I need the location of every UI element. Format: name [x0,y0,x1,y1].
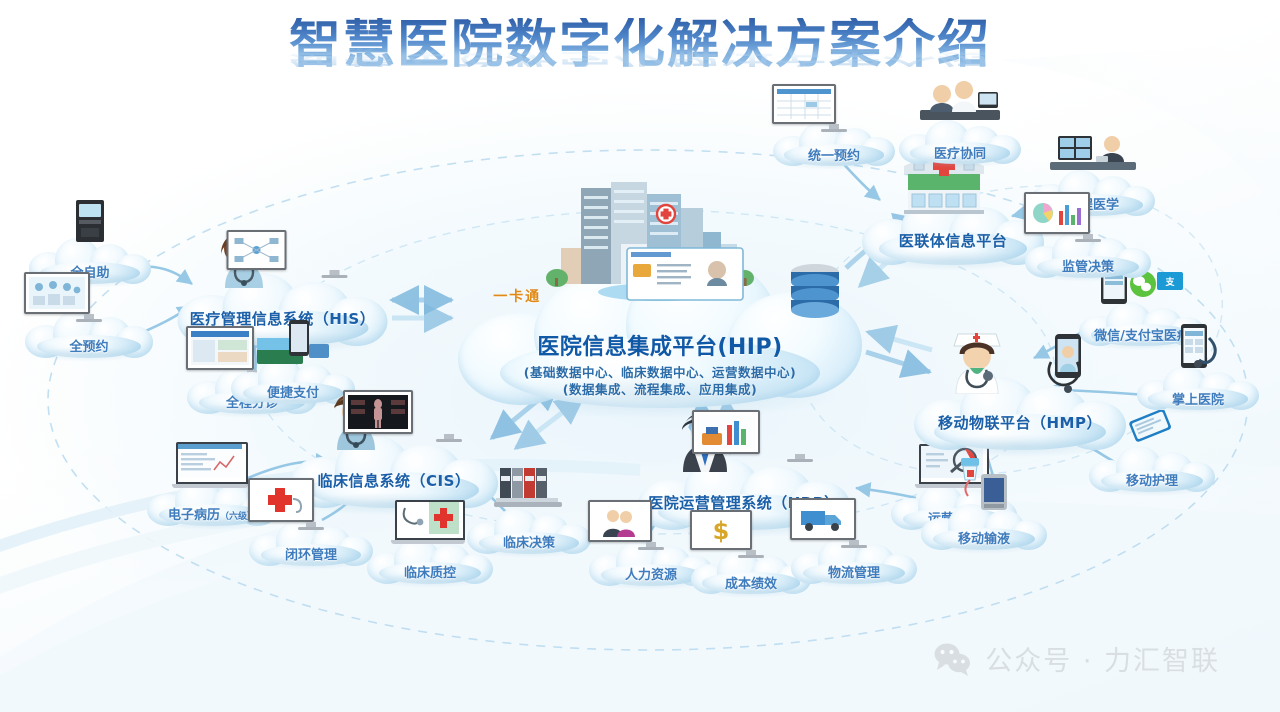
satellite-label-clinical-decision: 临床决策 [503,532,555,551]
satellite-label-unified-appointment: 统一预约 [808,145,860,164]
kiosk-terminal-icon [66,198,114,246]
hrp-monitor-icon [692,410,908,462]
satellite-medical-collaboration[interactable]: 医疗协同 [898,110,1022,166]
page-title: 智慧医院数字化解决方案介绍 [289,18,991,73]
satellite-unified-appointment[interactable]: 统一预约 [772,112,896,168]
satellite-label-mobile-hospital: 掌上医院 [1172,389,1224,408]
svg-text:支: 支 [1164,276,1175,288]
unified-appointment-monitor-icon [772,84,896,132]
network-topology-monitor [227,230,442,278]
connector-his-hip [392,300,452,318]
infusion-device-icon [949,458,1019,512]
satellite-label-clinical-qc: 临床质控 [404,562,456,581]
svg-text:$: $ [713,517,730,545]
satellite-logistics[interactable]: 物流管理 [790,528,918,586]
hip-sub2: (数据集成、流程集成、应用集成) [524,382,796,398]
satellite-label-logistics: 物流管理 [828,562,880,581]
watermark-text: 公众号 · 力汇智联 [985,639,1220,678]
slide-canvas: 智慧医院数字化解决方案介绍 智慧医院数字化解决方案介绍 [0,0,1280,712]
emr-laptop-icon [176,442,248,488]
hip-sub1: (基础数据中心、临床数据中心、运营数据中心) [524,365,796,381]
satellite-label-cost-performance: 成本绩效 [725,573,777,592]
satellite-label-supervision-decision: 监管决策 [1062,256,1114,275]
satellite-mobile-hospital[interactable]: 掌上医院 [1136,356,1260,412]
wechat-icon [933,642,973,676]
satellite-full-appointment[interactable]: 全预约 [24,300,154,360]
satellite-label-medical-collaboration: 医疗协同 [934,143,986,162]
closed-loop-monitor-icon [248,478,374,530]
satellite-label-full-appointment: 全预约 [69,336,108,355]
satellite-label-easy-payment: 便捷支付 [267,382,319,401]
satellite-closed-loop[interactable]: 闭环管理 [248,510,374,568]
payment-card-phone-icon [255,318,331,366]
telemedicine-desk-icon [1050,128,1136,176]
anatomy-monitor-icon [343,390,555,442]
health-card-art [625,246,745,304]
platform-label-hmp: 移动物联平台（HMP） [938,412,1102,433]
consultation-photo-icon [920,78,1000,124]
watermark: 公众号 · 力汇智联 [933,639,1220,678]
satellite-label-mobile-infusion: 移动输液 [958,528,1010,547]
supervision-dashboard-monitor-icon [1024,192,1152,242]
title-block: 智慧医院数字化解决方案介绍 智慧医院数字化解决方案介绍 [0,18,1280,121]
red-cross-emblem [657,205,675,223]
appointment-monitor-icon [24,272,154,322]
nurse-art [940,324,1014,394]
platform-label-union: 医联体信息平台 [899,230,1008,251]
nursing-tablet-icon [1121,410,1183,450]
platform-union[interactable]: 医联体信息平台 [860,186,1046,268]
card-label: 一卡通 [493,286,541,306]
satellite-mobile-nursing[interactable]: 移动护理 [1088,436,1216,494]
page-title-reflection: 智慧医院数字化解决方案介绍 [0,42,1280,67]
platform-label-hip: 医院信息集成平台(HIP) (基础数据中心、临床数据中心、运营数据中心) (数据… [524,334,796,398]
platform-hip[interactable]: 一卡通 医院信息集成平台(HIP) (基础数据中心、临床数据中心、运营数据中心)… [450,236,870,412]
database-icon [786,262,844,322]
satellite-supervision-decision[interactable]: 监管决策 [1024,222,1152,280]
satellite-label-closed-loop: 闭环管理 [285,544,337,563]
hip-title: 医院信息集成平台(HIP) [524,334,796,362]
satellite-clinical-decision[interactable]: 临床决策 [466,498,592,556]
satellite-mobile-infusion[interactable]: 移动输液 [920,494,1048,552]
clinical-qc-laptop-icon [395,500,465,544]
satellite-label-mobile-nursing: 移动护理 [1126,470,1178,489]
satellite-label-emr: 电子病历（六级） [168,504,256,523]
mobile-hospital-icon [1165,324,1231,374]
satellite-label-hr: 人力资源 [625,564,677,583]
binders-laptop-icon [494,466,564,512]
emr-label-main: 电子病历 [168,508,220,523]
